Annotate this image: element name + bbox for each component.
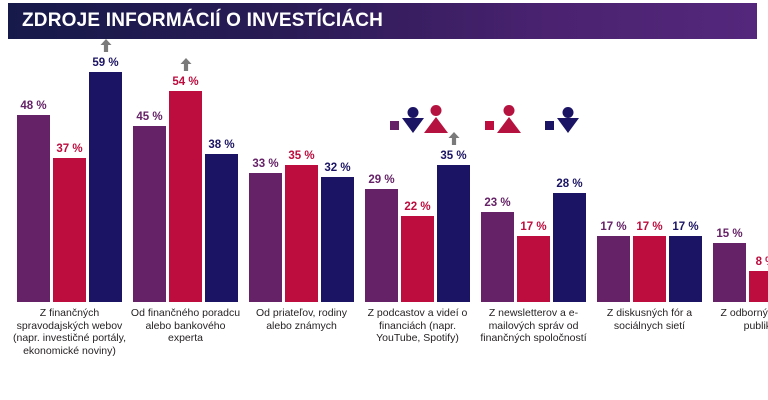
bar-men[interactable]: 38 %: [205, 154, 238, 302]
bar-rect-total: [713, 243, 746, 302]
page-title-bar: ZDROJE INFORMÁCIÍ O INVESTÍCIÁCH: [8, 3, 757, 39]
bar-group: 23 %17 %28 %: [481, 60, 586, 302]
bar-value-label: 37 %: [48, 143, 92, 155]
bar-rect-total: [597, 236, 630, 302]
bar-rect-women: [285, 165, 318, 302]
bar-rect-women: [633, 236, 666, 302]
bar-rect-women: [169, 91, 202, 302]
bar-value-label: 45 %: [128, 111, 172, 123]
bar-women[interactable]: 8 %: [749, 271, 768, 302]
category-label: Z diskusných fór a sociálnych sietí: [591, 307, 708, 332]
bar-group: 33 %35 %32 %: [249, 60, 354, 302]
bar-value-label: 32 %: [316, 162, 360, 174]
bar-rect-women: [53, 158, 86, 302]
bar-rect-total: [365, 189, 398, 302]
bar-total[interactable]: 23 %: [481, 212, 514, 302]
category-label: Z newsletterov a e-mailových správ od fi…: [475, 307, 592, 345]
bar-women[interactable]: 22 %: [401, 216, 434, 302]
bar-value-label: 15 %: [708, 228, 752, 240]
bar-rect-total: [481, 212, 514, 302]
bar-rect-women: [401, 216, 434, 302]
bar-women[interactable]: 17 %: [517, 236, 550, 302]
bar-value-label: 59 %: [84, 57, 128, 69]
bar-value-label: 38 %: [200, 139, 244, 151]
bar-men[interactable]: 59 %: [89, 72, 122, 302]
bar-value-label: 54 %: [164, 76, 208, 88]
bar-rect-men: [669, 236, 702, 302]
significance-up-arrow-icon: [448, 132, 459, 145]
bar-group: 15 %8 %22 %: [713, 60, 768, 302]
bar-group: 45 %54 %38 %: [133, 60, 238, 302]
bar-women[interactable]: 37 %: [53, 158, 86, 302]
bar-rect-men: [321, 177, 354, 302]
bar-rect-total: [249, 173, 282, 302]
category-label: Z odborných kníh a publikácií: [707, 307, 768, 332]
chart-category-labels: Z finančných spravodajských webov (napr.…: [0, 307, 768, 397]
category-label: Od finančného poradcu alebo bankového ex…: [127, 307, 244, 345]
bar-total[interactable]: 48 %: [17, 115, 50, 302]
bar-rect-women: [517, 236, 550, 302]
bar-women[interactable]: 54 %: [169, 91, 202, 302]
bar-value-label: 28 %: [548, 178, 592, 190]
bar-value-label: 35 %: [280, 150, 324, 162]
bar-women[interactable]: 17 %: [633, 236, 666, 302]
bar-value-label: 48 %: [12, 100, 56, 112]
bar-value-label: 29 %: [360, 174, 404, 186]
bar-rect-women: [749, 271, 768, 302]
category-label: Z finančných spravodajských webov (napr.…: [11, 307, 128, 357]
bar-rect-men: [553, 193, 586, 302]
bar-group: 17 %17 %17 %: [597, 60, 702, 302]
bar-rect-men: [437, 165, 470, 302]
bar-total[interactable]: 33 %: [249, 173, 282, 302]
bar-group: 48 %37 %59 %: [17, 60, 122, 302]
page-title: ZDROJE INFORMÁCIÍ O INVESTÍCIÁCH: [22, 10, 383, 32]
bar-value-label: 22 %: [396, 201, 440, 213]
bar-total[interactable]: 15 %: [713, 243, 746, 302]
bar-women[interactable]: 35 %: [285, 165, 318, 302]
bar-total[interactable]: 29 %: [365, 189, 398, 302]
bar-total[interactable]: 17 %: [597, 236, 630, 302]
category-label: Z podcastov a videí o financiách (napr. …: [359, 307, 476, 345]
bar-value-label: 23 %: [476, 197, 520, 209]
bar-value-label: 17 %: [664, 221, 708, 233]
significance-up-arrow-icon: [180, 58, 191, 71]
bar-men[interactable]: 28 %: [553, 193, 586, 302]
significance-up-arrow-icon: [100, 39, 111, 52]
bar-men[interactable]: 35 %: [437, 165, 470, 302]
bar-value-label: 8 %: [744, 256, 768, 268]
bar-value-label: 35 %: [432, 150, 476, 162]
bar-group: 29 %22 %35 %: [365, 60, 470, 302]
bar-rect-total: [17, 115, 50, 302]
bar-men[interactable]: 17 %: [669, 236, 702, 302]
bar-rect-men: [89, 72, 122, 302]
category-label: Od priateľov, rodiny alebo známych: [243, 307, 360, 332]
bar-rect-men: [205, 154, 238, 302]
bar-men[interactable]: 32 %: [321, 177, 354, 302]
bar-total[interactable]: 45 %: [133, 126, 166, 302]
bar-value-label: 17 %: [512, 221, 556, 233]
bar-rect-total: [133, 126, 166, 302]
chart-plot-area: 48 %37 %59 %45 %54 %38 %33 %35 %32 %29 %…: [0, 60, 768, 302]
